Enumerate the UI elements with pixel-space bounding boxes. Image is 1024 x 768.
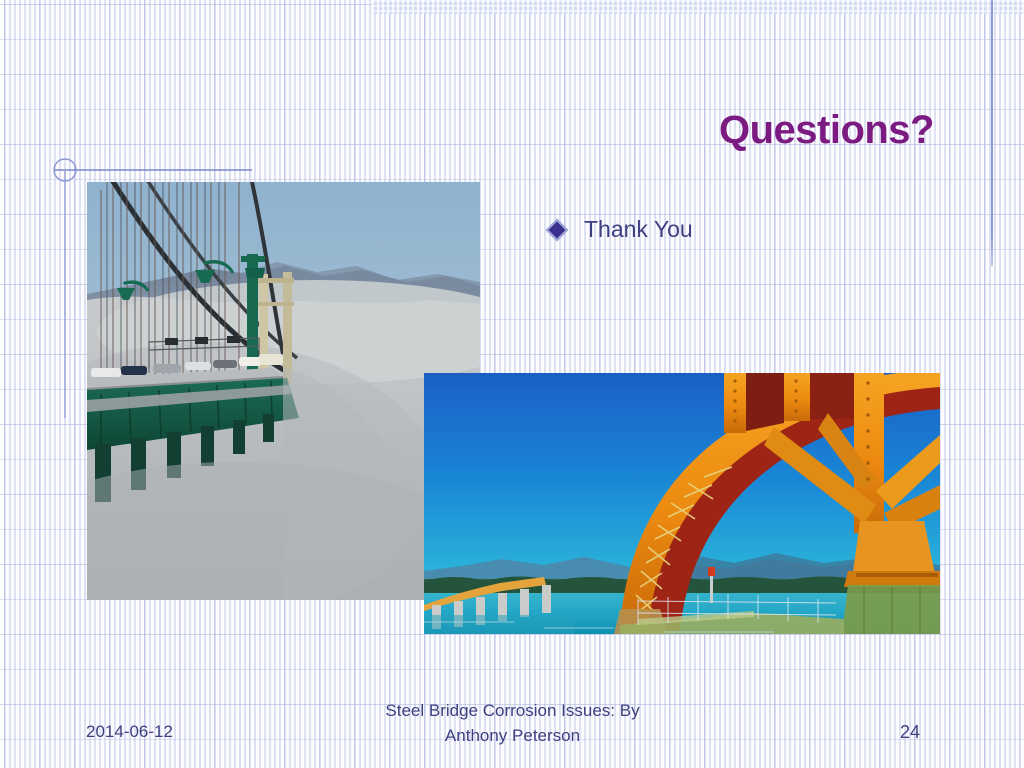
steel-arch-bridge-photo [424,373,940,634]
top-accent-band [372,0,1024,14]
presentation-slide: Questions? Thank You [0,0,1024,768]
bullet-label: Thank You [584,216,693,244]
suspension-bridge-photo [87,182,480,600]
diamond-bullet-icon [548,221,566,239]
footer-title-line-1: Steel Bridge Corrosion Issues: By [330,699,695,724]
footer-title: Steel Bridge Corrosion Issues: By Anthon… [330,699,695,748]
right-accent-rule [991,0,993,266]
bullet-list: Thank You [548,216,968,258]
footer-date: 2014-06-12 [86,722,173,742]
page-title: Questions? [719,108,934,153]
footer-page-number: 24 [880,722,940,743]
list-item: Thank You [548,216,968,244]
footer-title-line-2: Anthony Peterson [330,724,695,749]
